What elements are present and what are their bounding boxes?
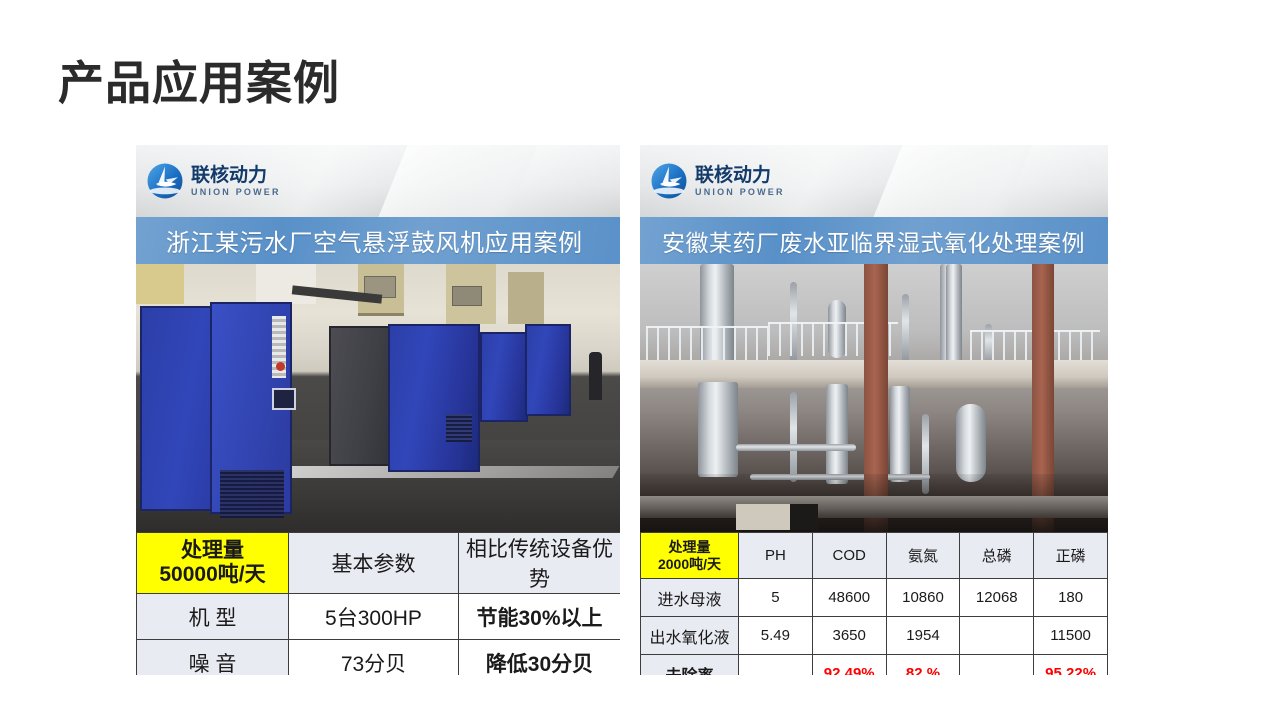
table-row: 机 型 5台300HP 节能30%以上 <box>137 594 621 640</box>
case-panel-left: 联核动力 UNION POWER 浙江某污水厂空气悬浮鼓风机应用案例 <box>136 145 620 675</box>
row-advantage: 节能30%以上 <box>459 594 621 640</box>
brand-text-right: 联核动力 UNION POWER <box>695 166 785 197</box>
header-cod: COD <box>812 533 886 579</box>
photo-steel-column <box>826 384 848 484</box>
case-panel-right: 联核动力 UNION POWER 安徽某药厂废水亚临界湿式氧化处理案例 <box>640 145 1108 675</box>
row-label: 进水母液 <box>641 579 739 617</box>
row-param: 5台300HP <box>289 594 459 640</box>
photo-person <box>589 352 602 400</box>
photo-steel-column <box>946 264 962 362</box>
cell-ph <box>739 655 813 676</box>
cell-ph: 5 <box>739 579 813 617</box>
table-header-row: 处理量 50000吨/天 基本参数 相比传统设备优势 <box>137 533 621 594</box>
brand-header-right: 联核动力 UNION POWER <box>640 145 1108 217</box>
row-label: 机 型 <box>137 594 289 640</box>
header-capacity-line2: 50000吨/天 <box>159 563 265 586</box>
header-ph: PH <box>739 533 813 579</box>
photo-duct <box>508 272 544 324</box>
header-advantage: 相比传统设备优势 <box>459 533 621 594</box>
case-card-right: 联核动力 UNION POWER 安徽某药厂废水亚临界湿式氧化处理案例 <box>640 145 1108 532</box>
photo-steel-column <box>698 382 738 477</box>
cell-ammonia: 82 % <box>886 655 960 676</box>
case-photo-left <box>136 264 620 532</box>
header-capacity-line1: 处理量 <box>669 539 711 555</box>
brand-name-cn: 联核动力 <box>191 166 281 185</box>
photo-intake-grill <box>220 470 284 518</box>
union-power-logo-icon <box>650 162 688 200</box>
photo-control-screen <box>272 388 296 410</box>
row-param: 73分贝 <box>289 640 459 676</box>
photo-ground-shadow <box>640 474 1108 532</box>
photo-wall-panel <box>256 264 316 304</box>
case-title-left: 浙江某污水厂空气悬浮鼓风机应用案例 <box>136 223 583 258</box>
photo-blower-unit <box>525 324 571 416</box>
header-capacity-line1: 处理量 <box>181 539 244 562</box>
photo-steel-column <box>890 386 910 482</box>
photo-blower-housing <box>329 326 392 466</box>
union-power-logo-icon <box>146 162 184 200</box>
row-label: 出水氧化液 <box>641 617 739 655</box>
photo-vessel <box>956 404 986 482</box>
brand-name-en: UNION POWER <box>695 188 785 197</box>
photo-pipe <box>790 392 797 482</box>
cell-ph: 5.49 <box>739 617 813 655</box>
photo-wall-segment <box>136 264 184 304</box>
table-row: 去除率 92.49% 82 % 95.22% <box>641 655 1108 676</box>
brand-name-en: UNION POWER <box>191 188 281 197</box>
cell-cod: 92.49% <box>812 655 886 676</box>
spec-table-right: 处理量 2000吨/天 PH COD 氨氮 总磷 正磷 进水母液 5 48600… <box>640 532 1108 675</box>
header-capacity: 处理量 50000吨/天 <box>137 533 289 594</box>
page-title: 产品应用案例 <box>58 58 340 109</box>
row-advantage: 降低30分贝 <box>459 640 621 676</box>
header-ammonia: 氨氮 <box>886 533 960 579</box>
cell-ortho-p: 95.22% <box>1034 655 1108 676</box>
header-ortho-p: 正磷 <box>1034 533 1108 579</box>
cell-ammonia: 1954 <box>886 617 960 655</box>
brand-text-left: 联核动力 UNION POWER <box>191 166 281 197</box>
brand-name-cn: 联核动力 <box>695 166 785 185</box>
case-banner-left: 浙江某污水厂空气悬浮鼓风机应用案例 <box>136 217 620 264</box>
photo-doorway <box>790 504 818 530</box>
spec-table-left: 处理量 50000吨/天 基本参数 相比传统设备优势 机 型 5台300HP 节… <box>136 532 620 675</box>
photo-vent <box>452 286 482 306</box>
photo-emergency-stop <box>276 362 285 371</box>
brand-lockup-right: 联核动力 UNION POWER <box>650 162 785 200</box>
cell-ortho-p: 11500 <box>1034 617 1108 655</box>
case-banner-right: 安徽某药厂废水亚临界湿式氧化处理案例 <box>640 217 1108 264</box>
table-header-row: 处理量 2000吨/天 PH COD 氨氮 总磷 正磷 <box>641 533 1108 579</box>
cell-cod: 3650 <box>812 617 886 655</box>
cell-ortho-p: 180 <box>1034 579 1108 617</box>
cell-total-p: 12068 <box>960 579 1034 617</box>
photo-blower-unit <box>388 324 480 472</box>
header-total-p: 总磷 <box>960 533 1034 579</box>
cell-total-p <box>960 655 1034 676</box>
header-capacity-line2: 2000吨/天 <box>658 556 721 572</box>
photo-pipe <box>736 444 856 451</box>
photo-equipment-box <box>736 504 790 530</box>
photo-blower-grill <box>446 414 472 442</box>
header-capacity: 处理量 2000吨/天 <box>641 533 739 579</box>
row-label: 噪 音 <box>137 640 289 676</box>
table-row: 出水氧化液 5.49 3650 1954 11500 <box>641 617 1108 655</box>
row-label: 去除率 <box>641 655 739 676</box>
photo-pipe <box>902 294 909 362</box>
brand-header-left: 联核动力 UNION POWER <box>136 145 620 217</box>
case-title-right: 安徽某药厂废水亚临界湿式氧化处理案例 <box>640 224 1085 258</box>
header-basic-params: 基本参数 <box>289 533 459 594</box>
cell-ammonia: 10860 <box>886 579 960 617</box>
cell-total-p <box>960 617 1034 655</box>
brand-lockup-left: 联核动力 UNION POWER <box>146 162 281 200</box>
cell-cod: 48600 <box>812 579 886 617</box>
table-row: 进水母液 5 48600 10860 12068 180 <box>641 579 1108 617</box>
case-photo-right <box>640 264 1108 532</box>
table-row: 噪 音 73分贝 降低30分贝 <box>137 640 621 676</box>
photo-blower-unit <box>480 332 528 422</box>
photo-handrail <box>646 326 768 360</box>
case-card-left: 联核动力 UNION POWER 浙江某污水厂空气悬浮鼓风机应用案例 <box>136 145 620 532</box>
